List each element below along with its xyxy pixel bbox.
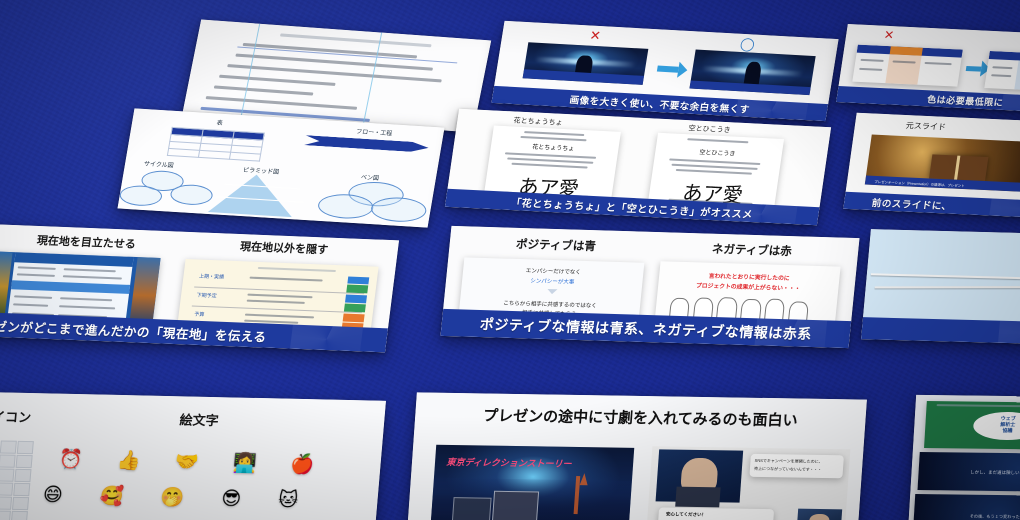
dark-slide-2: その後、もう１つ変わったのは WEB分析ツールを使おう <box>913 494 1020 520</box>
slide-icons-emoji[interactable]: アイコン 絵文字 <box>0 391 386 520</box>
badge-text: ウェブ 解析士 協議 <box>973 415 1020 435</box>
cycle-node <box>168 183 214 206</box>
panel-title-negative: ネガティブは赤 <box>661 239 842 260</box>
panel-title-hide: 現在地以外を隠す <box>195 237 373 260</box>
panel-title-emoji: 絵文字 <box>110 407 288 430</box>
slide-current-position[interactable]: 現在地を目立たせる 現在地以外を隠す <box>0 224 399 353</box>
row-label-2: 下期予定 <box>196 292 217 300</box>
emoji-row-bottom: 😄 🥰 🤭 😎 🐱 <box>42 486 299 511</box>
skit-photo-left: 東京ディレクションストーリー <box>430 445 634 520</box>
dark-line-1: しかし、まだ道は険しい・・・ <box>919 469 1020 477</box>
cat-face-icon: 🐱 <box>277 491 298 510</box>
slide-row-4: アイコン 絵文字 <box>0 0 1020 140</box>
panel-title-highlight: 現在地を目立たせる <box>1 230 171 253</box>
icon-cell[interactable] <box>0 468 15 482</box>
label-venn: ベン図 <box>360 172 380 182</box>
slides-wall: ✕ ◯ 画像を大きく使い、不要な余白を無くす ✕ ◯ <box>0 0 1020 520</box>
skit-photo-title: 東京ディレクションストーリー <box>446 455 572 470</box>
icon-cell[interactable] <box>16 455 33 469</box>
icon-cell[interactable] <box>0 483 14 497</box>
slide-skit[interactable]: プレゼンの途中に寸劇を入れてみるのも面白い 東京ディレクションストーリー SNS… <box>407 392 867 520</box>
skit-photo-right: SNSでキャンペーンを展開したのに、 売上につながっていないんです・・・ 安心し… <box>646 447 850 520</box>
hand-over-mouth-icon: 🤭 <box>160 488 185 508</box>
emoji-row-top: ⏰ 👍 🤝 👩‍💻 🍎 <box>58 450 315 475</box>
person-laptop-icon: 👩‍💻 <box>232 454 257 474</box>
slide-line-chart[interactable] <box>861 229 1020 345</box>
icon-cell[interactable] <box>15 469 32 483</box>
dark-slide-1: しかし、まだ道は険しい・・・ <box>918 452 1020 492</box>
icon-cell[interactable] <box>11 511 28 520</box>
icon-cell[interactable] <box>0 440 17 454</box>
pyramid-shape <box>208 172 299 217</box>
bubble-line-2: 売上につながっていないんです・・・ <box>754 466 822 473</box>
alarm-clock-icon: ⏰ <box>58 450 83 470</box>
icon-cell[interactable] <box>12 497 29 511</box>
icon-cell[interactable] <box>17 440 34 454</box>
icon-palette[interactable] <box>0 439 34 520</box>
slide-color-meaning[interactable]: ポジティブは青 ネガティブは赤 エンパシーだけでなく シンパシーが大事 こちらか… <box>441 226 860 348</box>
icon-cell[interactable] <box>14 483 31 497</box>
label-cycle: サイクル図 <box>143 159 174 170</box>
icon-cell[interactable] <box>0 454 16 468</box>
venn-circle <box>369 196 428 223</box>
row-label-1: 上期・実績 <box>199 273 225 281</box>
speech-bubble-2: 安心してください！ <box>658 508 775 520</box>
row-label-3: 予算 <box>194 311 205 318</box>
title-skit: プレゼンの途中に寸劇を入れてみるのも面白い <box>415 404 866 432</box>
panel-title-positive: ポジティブは青 <box>465 234 646 255</box>
sunglasses-face-icon: 😎 <box>221 490 242 509</box>
bubble-line-3: 安心してください！ <box>666 512 707 519</box>
bubble-line-1: SNSでキャンペーンを展開したのに、 <box>754 458 822 465</box>
smiling-hearts-icon: 🥰 <box>99 487 124 507</box>
dark-line-2: その後、もう１つ変わったのは <box>914 513 1020 520</box>
icon-cell[interactable] <box>0 497 12 511</box>
slide-webbunseki[interactable]: ウェブ 解析士 協議 しかし、まだ道は険しい・・・ その後、もう１つ変わったのは… <box>908 395 1020 520</box>
handshake-icon: 🤝 <box>174 452 199 472</box>
green-certificate: ウェブ 解析士 協議 <box>924 401 1020 451</box>
grinning-face-icon: 😄 <box>42 486 63 505</box>
panel-title-icons: アイコン <box>0 405 94 428</box>
speech-bubble-1: SNSでキャンペーンを展開したのに、 売上につながっていないんです・・・ <box>749 454 844 479</box>
thumbs-up-icon: 👍 <box>116 451 141 471</box>
apple-icon: 🍎 <box>290 455 315 475</box>
icon-cell[interactable] <box>0 511 11 520</box>
